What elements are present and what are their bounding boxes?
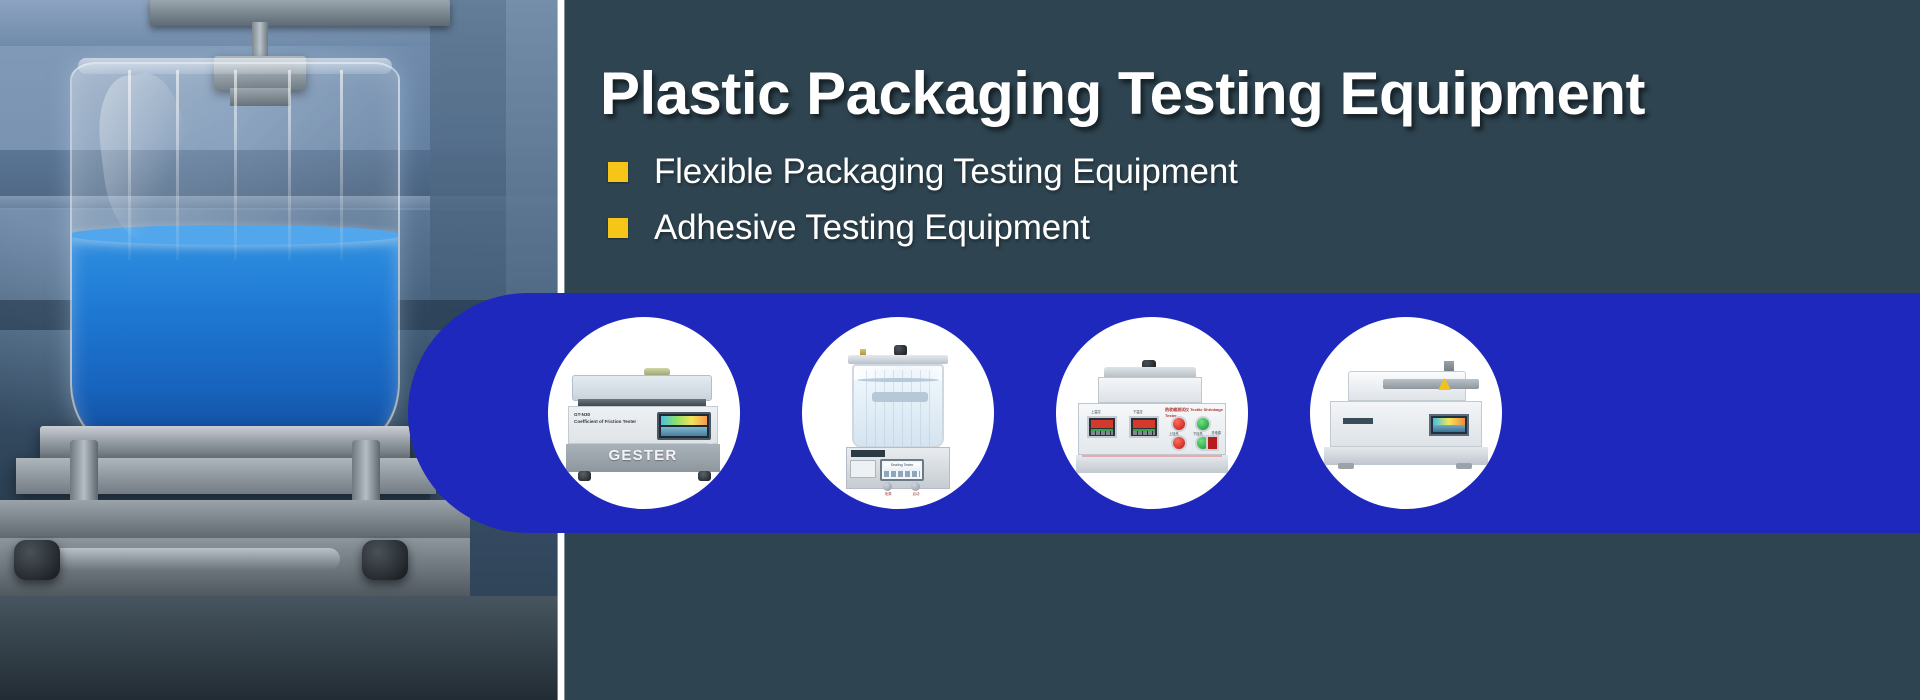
list-item: Flexible Packaging Testing Equipment	[608, 152, 1238, 192]
banner-text-content: Plastic Packaging Testing Equipment Flex…	[0, 0, 1920, 700]
list-item-label: Adhesive Testing Equipment	[654, 208, 1090, 248]
page-title: Plastic Packaging Testing Equipment	[600, 60, 1900, 127]
bullet-square-icon	[608, 218, 628, 238]
feature-list: Flexible Packaging Testing Equipment Adh…	[608, 152, 1238, 264]
list-item-label: Flexible Packaging Testing Equipment	[654, 152, 1238, 192]
bullet-square-icon	[608, 162, 628, 182]
list-item: Adhesive Testing Equipment	[608, 208, 1238, 248]
product-banner: GT-N30 Coefficient of Friction Tester GE…	[0, 0, 1920, 700]
